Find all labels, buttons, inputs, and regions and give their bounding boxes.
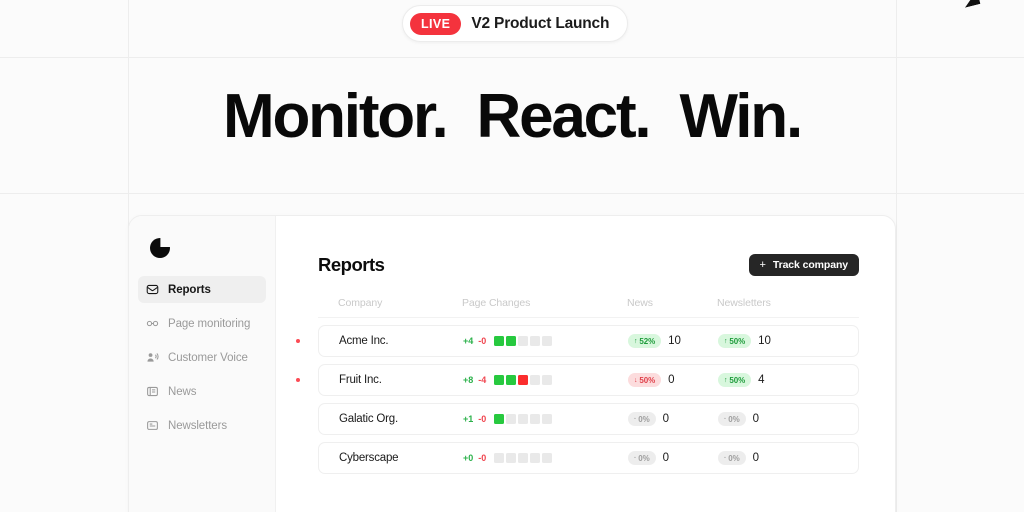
cell-newsletters: ·0%0 [718, 412, 828, 426]
live-badge: LIVE [410, 13, 461, 35]
segment-gray [494, 453, 504, 463]
cell-news: ↑52%10 [628, 334, 718, 348]
table-row-wrapper: Fruit Inc.+8-4↓50%0↑50%4 [318, 364, 859, 396]
sidebar-item-label: News [168, 386, 196, 398]
cell-company-name: Acme Inc. [339, 335, 463, 347]
newsletter-icon [146, 419, 159, 432]
sidebar-item-label: Page monitoring [168, 318, 250, 330]
cell-page-changes: +4-0 [463, 336, 628, 346]
sidebar-item-page-monitoring[interactable]: Page monitoring [138, 310, 266, 337]
column-header-news: News [627, 297, 717, 309]
page-title: Reports [318, 254, 384, 276]
newsletters-value: 4 [758, 374, 764, 386]
segment-red [518, 375, 528, 385]
trend-up-icon: ↑ [724, 338, 727, 345]
cell-news: ·0%0 [628, 451, 718, 465]
sidebar-item-customer-voice[interactable]: Customer Voice [138, 344, 266, 371]
pie-logo-icon [150, 238, 170, 258]
track-company-label: Track company [773, 259, 848, 271]
pages-removed-count: -0 [478, 453, 486, 463]
inbox-icon [146, 283, 159, 296]
page-change-segment-bar [494, 414, 552, 424]
news-trend-percent: 50% [639, 376, 655, 385]
cell-company-name: Cyberscape [339, 452, 463, 464]
news-trend-percent: 0% [638, 454, 649, 463]
news-trend-badge: ↓50% [628, 373, 661, 387]
segment-gray [518, 453, 528, 463]
layout-guide-right [896, 0, 897, 512]
layout-guide-top [0, 57, 1024, 58]
newsletters-value: 0 [753, 413, 759, 425]
news-icon [146, 385, 159, 398]
table-row[interactable]: Cyberscape+0-0·0%0·0%0 [318, 442, 859, 474]
news-trend-badge: ·0% [628, 412, 656, 426]
pages-added-count: +0 [463, 453, 473, 463]
plus-icon: + [760, 260, 766, 271]
news-value: 0 [663, 413, 669, 425]
announcement-label: V2 Product Launch [471, 15, 609, 33]
sidebar-item-label: Customer Voice [168, 352, 248, 364]
segment-gray [518, 336, 528, 346]
cell-news: ·0%0 [628, 412, 718, 426]
app-preview-card: ReportsPage monitoringCustomer VoiceNews… [128, 215, 896, 512]
table-header-row: Company Page Changes News Newsletters [318, 297, 859, 318]
column-header-newsletters: Newsletters [717, 297, 827, 309]
trend-up-icon: ↑ [724, 377, 727, 384]
cursor-fragment-icon [962, 0, 981, 8]
announcement-pill[interactable]: LIVE V2 Product Launch [402, 5, 628, 42]
cell-news: ↓50%0 [628, 373, 718, 387]
trend-up-icon: ↑ [634, 338, 637, 345]
newsletters-value: 0 [753, 452, 759, 464]
page-root: LIVE V2 Product Launch Monitor. React. W… [0, 0, 1024, 512]
pages-removed-count: -0 [478, 414, 486, 424]
table-body: Acme Inc.+4-0↑52%10↑50%10Fruit Inc.+8-4↓… [318, 325, 859, 474]
segment-gray [530, 375, 540, 385]
page-change-segment-bar [494, 375, 552, 385]
trend-flat-icon: · [634, 455, 636, 462]
newsletters-trend-percent: 0% [728, 454, 739, 463]
page-change-segment-bar [494, 336, 552, 346]
table-row-wrapper: Galatic Org.+1-0·0%0·0%0 [318, 403, 859, 435]
trend-flat-icon: · [634, 416, 636, 423]
segment-gray [542, 414, 552, 424]
news-trend-badge: ↑52% [628, 334, 661, 348]
user-voice-icon [146, 351, 159, 364]
segment-gray [530, 414, 540, 424]
binoculars-icon [146, 317, 159, 330]
segment-gray [518, 414, 528, 424]
segment-gray [506, 414, 516, 424]
news-trend-badge: ·0% [628, 451, 656, 465]
cell-page-changes: +8-4 [463, 375, 628, 385]
segment-green [494, 414, 504, 424]
newsletters-trend-badge: ↑50% [718, 334, 751, 348]
pages-removed-count: -0 [478, 336, 486, 346]
sidebar-item-reports[interactable]: Reports [138, 276, 266, 303]
segment-green [506, 336, 516, 346]
segment-gray [530, 336, 540, 346]
pages-added-count: +1 [463, 414, 473, 424]
sidebar-nav-list: ReportsPage monitoringCustomer VoiceNews… [138, 276, 266, 439]
segment-gray [530, 453, 540, 463]
page-change-segment-bar [494, 453, 552, 463]
segment-gray [542, 336, 552, 346]
panel-header: Reports + Track company [318, 254, 859, 276]
cell-company-name: Galatic Org. [339, 413, 463, 425]
trend-down-icon: ↓ [634, 377, 637, 384]
segment-gray [542, 375, 552, 385]
table-row-wrapper: Acme Inc.+4-0↑52%10↑50%10 [318, 325, 859, 357]
news-value: 0 [668, 374, 674, 386]
segment-gray [542, 453, 552, 463]
segment-gray [506, 453, 516, 463]
table-row-wrapper: Cyberscape+0-0·0%0·0%0 [318, 442, 859, 474]
segment-green [506, 375, 516, 385]
newsletters-trend-percent: 0% [728, 415, 739, 424]
cell-page-changes: +0-0 [463, 453, 628, 463]
table-row[interactable]: Fruit Inc.+8-4↓50%0↑50%4 [318, 364, 859, 396]
newsletters-trend-badge: ·0% [718, 451, 746, 465]
segment-green [494, 375, 504, 385]
table-row[interactable]: Acme Inc.+4-0↑52%10↑50%10 [318, 325, 859, 357]
app-main-panel: Reports + Track company Company Page Cha… [276, 216, 895, 512]
newsletters-value: 10 [758, 335, 771, 347]
cell-newsletters: ↑50%4 [718, 373, 828, 387]
track-company-button[interactable]: + Track company [749, 254, 859, 276]
table-row[interactable]: Galatic Org.+1-0·0%0·0%0 [318, 403, 859, 435]
hero-headline: Monitor. React. Win. [0, 86, 1024, 148]
newsletters-trend-percent: 50% [729, 337, 745, 346]
cell-page-changes: +1-0 [463, 414, 628, 424]
trend-flat-icon: · [724, 416, 726, 423]
cell-company-name: Fruit Inc. [339, 374, 463, 386]
pages-removed-count: -4 [478, 375, 486, 385]
layout-guide-middle [0, 193, 1024, 194]
newsletters-trend-badge: ↑50% [718, 373, 751, 387]
newsletters-trend-percent: 50% [729, 376, 745, 385]
news-value: 10 [668, 335, 681, 347]
alert-dot-icon [296, 339, 300, 343]
pages-added-count: +4 [463, 336, 473, 346]
column-header-company: Company [338, 297, 462, 309]
sidebar-item-news[interactable]: News [138, 378, 266, 405]
cell-newsletters: ·0%0 [718, 451, 828, 465]
reports-table: Company Page Changes News Newsletters Ac… [318, 297, 859, 474]
segment-green [494, 336, 504, 346]
sidebar-item-label: Reports [168, 284, 211, 296]
cell-newsletters: ↑50%10 [718, 334, 828, 348]
newsletters-trend-badge: ·0% [718, 412, 746, 426]
sidebar-item-newsletters[interactable]: Newsletters [138, 412, 266, 439]
pages-added-count: +8 [463, 375, 473, 385]
trend-flat-icon: · [724, 455, 726, 462]
news-trend-percent: 0% [638, 415, 649, 424]
news-value: 0 [663, 452, 669, 464]
alert-dot-icon [296, 378, 300, 382]
sidebar-item-label: Newsletters [168, 420, 227, 432]
app-sidebar: ReportsPage monitoringCustomer VoiceNews… [129, 216, 276, 512]
column-header-page-changes: Page Changes [462, 297, 627, 309]
news-trend-percent: 52% [639, 337, 655, 346]
